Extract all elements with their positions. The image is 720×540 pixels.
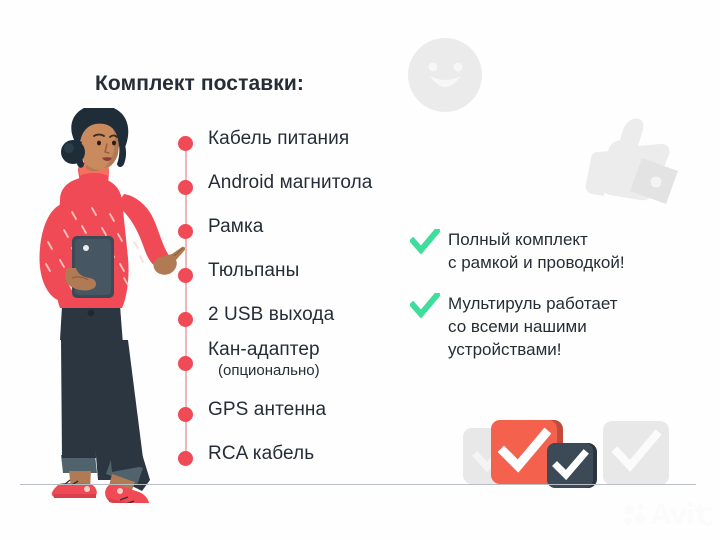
list-item-label: Кан-адаптер	[208, 339, 320, 361]
page-title: Комплект поставки:	[95, 72, 304, 96]
list-item-label: 2 USB выхода	[208, 304, 334, 326]
benefit-line: устройствами!	[448, 338, 710, 361]
list-item-label: Рамка	[208, 216, 263, 238]
benefit-line: Мультируль работает	[448, 292, 710, 315]
checkbox-card-grey	[603, 421, 669, 485]
avito-logo-icon	[620, 500, 712, 528]
checkbox-card-dark	[547, 443, 593, 488]
list-item-label: Android магнитола	[208, 172, 372, 194]
green-check-icon	[410, 293, 440, 319]
list-item-label: Кабель питания	[208, 128, 349, 150]
list-item-label: Тюльпаны	[208, 260, 299, 282]
benefits-list: Полный комплект с рамкой и проводкой! Му…	[410, 228, 710, 375]
benefit-line: со всеми нашими	[448, 315, 710, 338]
green-check-icon	[410, 229, 440, 255]
benefit-item: Полный комплект с рамкой и проводкой!	[410, 228, 710, 274]
list-item-sublabel: (опционально)	[218, 362, 320, 379]
checkbox-cards-group	[463, 418, 663, 488]
ground-line	[20, 484, 696, 485]
benefit-item: Мультируль работает со всеми нашими устр…	[410, 292, 710, 361]
poster-canvas: Комплект поставки: Кабель питания Androi…	[0, 0, 720, 540]
benefit-line: с рамкой и проводкой!	[448, 251, 710, 274]
benefit-line: Полный комплект	[448, 228, 710, 251]
smiley-face-icon	[408, 38, 482, 112]
list-item-label: RCA кабель	[208, 443, 314, 465]
list-item-label: GPS антенна	[208, 399, 326, 421]
woman-pointing-illustration	[16, 108, 186, 503]
thumbs-up-icon	[580, 108, 690, 213]
